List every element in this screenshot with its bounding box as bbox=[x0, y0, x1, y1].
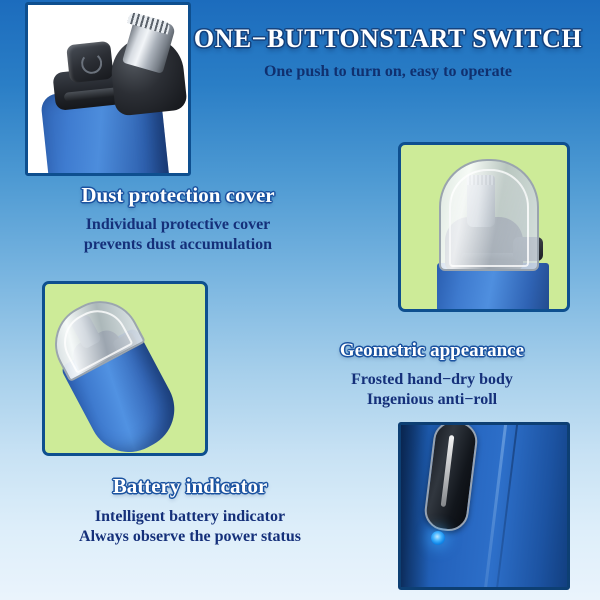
dust-cover-inner-edge bbox=[449, 169, 529, 267]
feature-description: Frosted hand−dry body Ingenious anti−rol… bbox=[282, 370, 582, 410]
feature-line-2: prevents dust accumulation bbox=[28, 235, 328, 255]
feature-heading: Battery indicator bbox=[30, 474, 350, 499]
title-block: ONE−BUTTONSTART SWITCH One push to turn … bbox=[176, 24, 600, 81]
panel-bottom-right bbox=[398, 422, 570, 590]
feature-dust-protection-cover: Dust protection cover Individual protect… bbox=[28, 183, 328, 255]
feature-heading: Geometric appearance bbox=[282, 340, 582, 362]
feature-description: Intelligent battery indicator Always obs… bbox=[30, 507, 350, 547]
feature-line-2: Always observe the power status bbox=[30, 527, 350, 547]
feature-description: Individual protective cover prevents dus… bbox=[28, 215, 328, 255]
feature-line-1: Intelligent battery indicator bbox=[30, 507, 350, 527]
feature-geometric-appearance: Geometric appearance Frosted hand−dry bo… bbox=[282, 340, 582, 410]
panel-top-right bbox=[398, 142, 570, 312]
feature-line-2: Ingenious anti−roll bbox=[282, 390, 582, 410]
product-feature-poster: ONE−BUTTONSTART SWITCH One push to turn … bbox=[0, 0, 600, 600]
panel-mid-left bbox=[42, 281, 208, 456]
battery-indicator-led bbox=[431, 531, 445, 545]
feature-line-1: Individual protective cover bbox=[28, 215, 328, 235]
power-button-icon bbox=[66, 41, 114, 83]
feature-line-1: Frosted hand−dry body bbox=[282, 370, 582, 390]
page-title: ONE−BUTTONSTART SWITCH bbox=[176, 24, 600, 54]
page-subtitle: One push to turn on, easy to operate bbox=[176, 63, 600, 81]
panel-top-left bbox=[25, 2, 191, 176]
feature-battery-indicator: Battery indicator Intelligent battery in… bbox=[30, 474, 350, 547]
feature-heading: Dust protection cover bbox=[28, 183, 328, 208]
full-product-assembly bbox=[42, 281, 208, 456]
